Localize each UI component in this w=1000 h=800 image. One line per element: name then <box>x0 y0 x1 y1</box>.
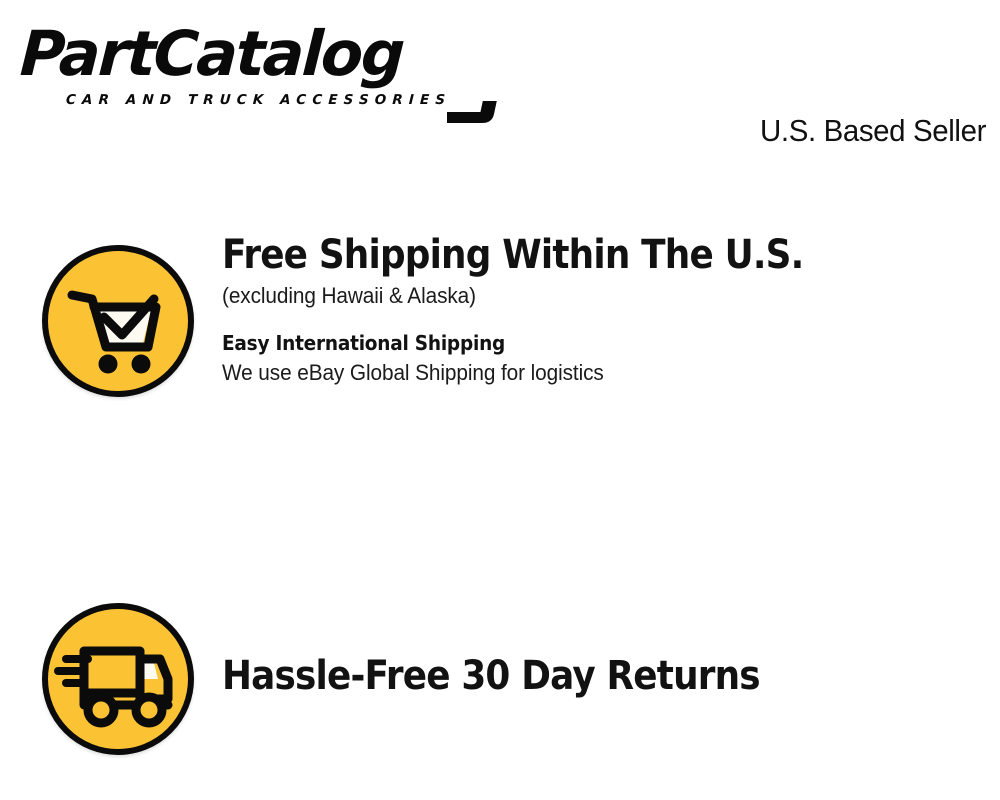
brand-tagline: CAR AND TRUCK ACCESSORIES <box>66 92 452 108</box>
promo-banner: PartCatalog CAR AND TRUCK ACCESSORIES <box>0 0 1000 800</box>
feature-row-free-shipping: Free Shipping Within The U.S. (excluding… <box>0 232 1000 418</box>
seller-badge-label: U.S. Based Seller <box>731 114 986 148</box>
feature-text-free-shipping: Free Shipping Within The U.S. (excluding… <box>222 232 992 387</box>
feature-row-returns: Hassle-Free 30 Day Returns <box>0 418 1000 590</box>
shopping-cart-check-icon <box>42 245 194 397</box>
logo-swoosh-icon <box>447 100 501 126</box>
feature-note: (excluding Hawaii & Alaska) <box>222 281 950 310</box>
feature-subheading: Easy International Shipping <box>222 328 934 358</box>
feature-list: Free Shipping Within The U.S. (excluding… <box>0 232 1000 760</box>
banner-header: PartCatalog CAR AND TRUCK ACCESSORIES <box>0 0 1000 175</box>
feature-headline: Free Shipping Within The U.S. <box>222 232 911 278</box>
feature-subtext: We use eBay Global Shipping for logistic… <box>222 358 950 387</box>
us-based-seller-badge: ★★★★★ ★★★★ ★★★★★ ★★★★ ★★★★★ U.S. Based S… <box>718 8 986 148</box>
feature-row-same-day: Most Orders Ship Same Day <box>0 590 1000 760</box>
us-flag-icon: ★★★★★ ★★★★ ★★★★★ ★★★★ ★★★★★ <box>838 8 984 107</box>
brand-logo[interactable]: PartCatalog CAR AND TRUCK ACCESSORIES <box>22 22 492 112</box>
brand-wordmark: PartCatalog <box>19 22 488 86</box>
